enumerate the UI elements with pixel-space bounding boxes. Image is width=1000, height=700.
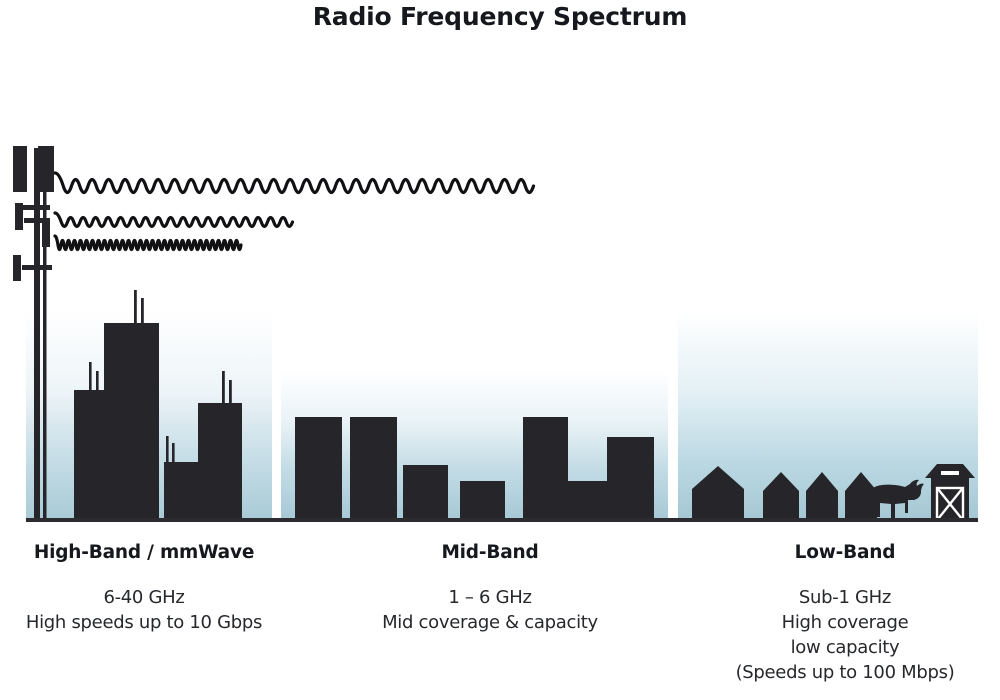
tower-mast [34, 148, 40, 520]
band-frequency-low: Sub-1 GHz [690, 585, 1000, 610]
tower-antenna-panel-top-right [38, 146, 54, 192]
radio-waves [55, 173, 534, 250]
building-silhouette [198, 403, 242, 520]
band-description-high-0: High speeds up to 10 Gbps [0, 610, 288, 635]
tower-antenna-panel-mid-left [15, 203, 23, 230]
caption-column-high-band: High-Band / mmWave 6-40 GHz High speeds … [0, 542, 288, 635]
caption-column-low-band: Low-Band Sub-1 GHz High coverage low cap… [690, 542, 1000, 685]
building-silhouette [607, 437, 654, 520]
building-silhouette [295, 417, 342, 520]
building-silhouette [104, 323, 159, 520]
building-spire [96, 371, 99, 392]
barn-hayloft-window [941, 471, 959, 475]
spectrum-illustration [0, 0, 1000, 540]
band-frequency-high: 6-40 GHz [0, 585, 288, 610]
tower-crossbar-upper [20, 205, 50, 210]
band-name-low: Low-Band [690, 542, 1000, 563]
band-description-mid-0: Mid coverage & capacity [340, 610, 640, 635]
building-silhouette [350, 417, 397, 520]
long-wavelength-wave [55, 173, 534, 193]
building-spire [172, 443, 175, 463]
building-silhouette [460, 481, 505, 520]
caption-column-mid-band: Mid-Band 1 – 6 GHz Mid coverage & capaci… [340, 542, 640, 635]
building-silhouette [403, 465, 448, 520]
band-name-mid: Mid-Band [340, 542, 640, 563]
building-spire [141, 298, 144, 324]
band-name-high: High-Band / mmWave [0, 542, 288, 563]
tower-antenna-panel-mid-right [42, 221, 50, 247]
building-spire [229, 380, 232, 404]
tower-antenna-panel-bottom [13, 255, 21, 281]
radio-frequency-spectrum-infographic: Radio Frequency Spectrum [0, 0, 1000, 700]
tower-crossbar-lower [22, 265, 52, 270]
band-frequency-mid: 1 – 6 GHz [340, 585, 640, 610]
building-spire [166, 436, 169, 463]
building-spire [134, 290, 137, 324]
band-description-low-1: low capacity [690, 635, 1000, 660]
band-description-low-0: High coverage [690, 610, 1000, 635]
band-details-high: 6-40 GHz High speeds up to 10 Gbps [0, 585, 288, 635]
scene-canvas [0, 0, 1000, 540]
tower-antenna-panel-top-left [13, 146, 27, 192]
medium-wavelength-wave [55, 213, 293, 227]
band-description-low-2: (Speeds up to 100 Mbps) [690, 660, 1000, 685]
building-spire [89, 362, 92, 392]
band-details-low: Sub-1 GHz High coverage low capacity (Sp… [690, 585, 1000, 685]
short-wavelength-wave [55, 236, 241, 250]
ground-line [26, 518, 978, 522]
building-silhouette [523, 417, 568, 520]
building-spire [222, 371, 225, 404]
band-details-mid: 1 – 6 GHz Mid coverage & capacity [340, 585, 640, 635]
building-silhouette [565, 481, 607, 520]
band-captions: High-Band / mmWave 6-40 GHz High speeds … [0, 542, 1000, 700]
